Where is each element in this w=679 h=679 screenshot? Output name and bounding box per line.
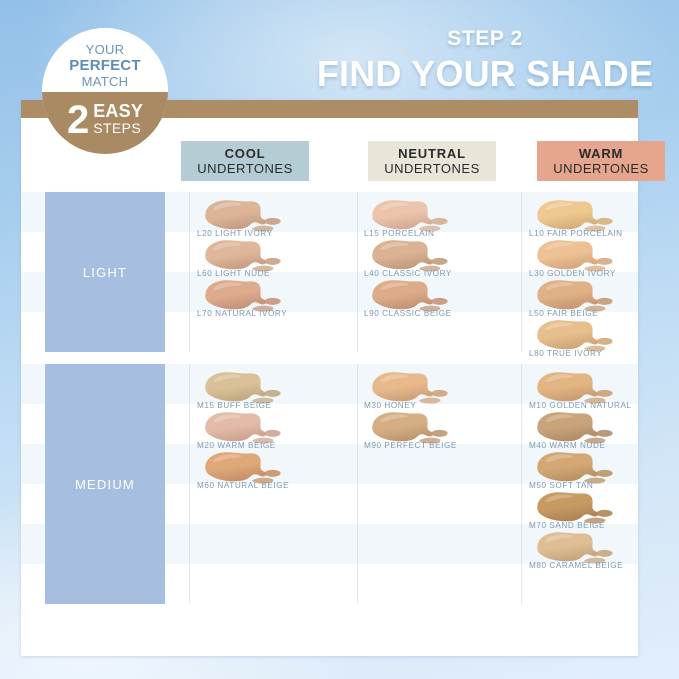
- badge-step-count: 2: [67, 100, 89, 140]
- undertone-header-neutral: NEUTRALUNDERTONES: [368, 141, 496, 181]
- badge-word-easy: EASY: [93, 103, 143, 120]
- depth-label-medium: MEDIUM: [45, 364, 165, 604]
- shade-chart-card: COOLUNDERTONESNEUTRALUNDERTONESWARMUNDER…: [21, 100, 638, 656]
- badge-line-your: YOUR: [86, 42, 125, 57]
- badge-word-steps: STEPS: [93, 120, 143, 137]
- step-label: STEP 2: [300, 26, 670, 52]
- shade-grid: L20 LIGHT IVORYL60 LIGHT NUDEL70 NATURAL…: [21, 192, 638, 604]
- depth-label-light: LIGHT: [45, 192, 165, 352]
- badge-top-half: YOUR PERFECT MATCH: [42, 28, 168, 92]
- undertone-name: NEUTRAL: [398, 146, 466, 161]
- badge-line-perfect: PERFECT: [69, 57, 140, 74]
- badge-line-match: MATCH: [82, 74, 129, 89]
- shade-cell[interactable]: L90 CLASSIC BEIGE: [364, 286, 514, 326]
- shade-name-label: L70 NATURAL IVORY: [197, 309, 347, 318]
- undertone-header-warm: WARMUNDERTONES: [537, 141, 665, 181]
- depth-label-text: LIGHT: [83, 265, 127, 280]
- shade-cell[interactable]: M60 NATURAL BEIGE: [197, 458, 347, 498]
- undertone-name: COOL: [225, 146, 266, 161]
- column-divider: [189, 192, 190, 352]
- row-stack: M15 BUFF BEIGEM20 WARM BEIGEM60 NATURAL …: [21, 364, 638, 604]
- undertone-sublabel: UNDERTONES: [384, 161, 480, 177]
- shade-name-label: M80 CARAMEL BEIGE: [529, 561, 679, 570]
- column-divider: [521, 364, 522, 604]
- column-divider: [357, 192, 358, 352]
- column-divider: [521, 192, 522, 352]
- column-divider: [189, 364, 190, 604]
- perfect-match-badge: YOUR PERFECT MATCH 2 EASY STEPS: [42, 28, 168, 154]
- depth-section-medium: M15 BUFF BEIGEM20 WARM BEIGEM60 NATURAL …: [21, 364, 638, 604]
- shade-name-label: M90 PERFECT BEIGE: [364, 441, 514, 450]
- undertone-sublabel: UNDERTONES: [197, 161, 293, 177]
- shade-finder-poster: STEP 2 FIND YOUR SHADE YOUR PERFECT MATC…: [0, 0, 679, 679]
- shade-cell[interactable]: M80 CARAMEL BEIGE: [529, 538, 679, 578]
- page-title: FIND YOUR SHADE: [300, 53, 670, 94]
- undertone-header-cool: COOLUNDERTONES: [181, 141, 309, 181]
- shade-name-label: M60 NATURAL BEIGE: [197, 481, 347, 490]
- shade-name-label: L90 CLASSIC BEIGE: [364, 309, 514, 318]
- undertone-sublabel: UNDERTONES: [553, 161, 649, 177]
- depth-section-light: L20 LIGHT IVORYL60 LIGHT NUDEL70 NATURAL…: [21, 192, 638, 352]
- shade-cell[interactable]: L70 NATURAL IVORY: [197, 286, 347, 326]
- badge-bottom-half: 2 EASY STEPS: [42, 92, 168, 155]
- shade-cell[interactable]: M90 PERFECT BEIGE: [364, 418, 514, 458]
- depth-label-text: MEDIUM: [75, 477, 135, 492]
- row-stack: L20 LIGHT IVORYL60 LIGHT NUDEL70 NATURAL…: [21, 192, 638, 352]
- column-divider: [357, 364, 358, 604]
- shade-cell[interactable]: L80 TRUE IVORY: [529, 326, 679, 366]
- undertone-name: WARM: [579, 146, 623, 161]
- shade-name-label: L80 TRUE IVORY: [529, 349, 679, 358]
- poster-header: STEP 2 FIND YOUR SHADE: [300, 26, 670, 94]
- badge-step-words: EASY STEPS: [93, 103, 143, 137]
